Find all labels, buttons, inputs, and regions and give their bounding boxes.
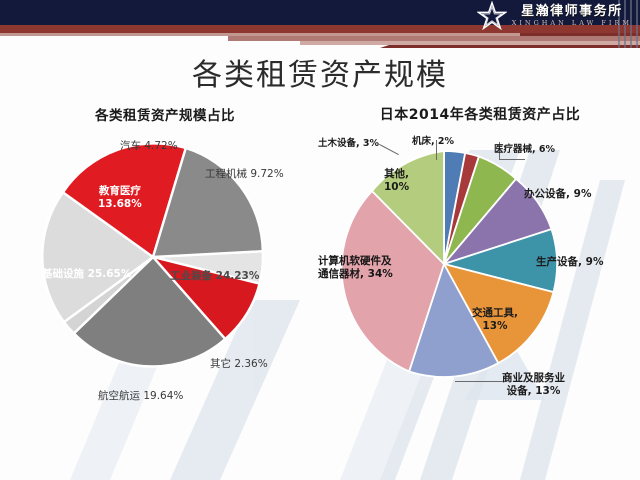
label-工程机械: 工程机械 9.72% [205, 168, 284, 181]
label-其他: 其他, 10% [384, 168, 409, 194]
label-工业装备: 工业装备 24.23% [170, 270, 259, 283]
star-icon [477, 1, 507, 31]
label-商业及服务业设备: 商业及服务业 设备, 13% [502, 372, 565, 398]
label-计算机软硬件及通信器材: 计算机软硬件及 通信器材, 34% [318, 255, 393, 281]
label-办公设备: 办公设备, 9% [524, 188, 591, 201]
label-航空航运: 航空航运 19.64% [98, 390, 183, 403]
chart-left-title: 各类租赁资产规模占比 [10, 104, 320, 124]
banner-step-2 [300, 41, 640, 45]
leader-line-医疗器械-2 [499, 159, 525, 160]
label-其它: 其它 2.36% [210, 358, 268, 371]
label-汽车: 汽车 4.72% [120, 140, 178, 153]
leader-line-商业及服务业设备 [455, 381, 507, 382]
label-交通工具: 交通工具, 13% [472, 307, 518, 333]
slide-canvas: 星瀚律师事务所 XINGHAN LAW FIRM 各类租赁资产规模 各类租赁资产… [0, 0, 640, 480]
header-banner: 星瀚律师事务所 XINGHAN LAW FIRM [0, 0, 640, 48]
label-教育医疗: 教育医疗 13.68% [98, 185, 142, 211]
chart-right-title: 日本2014年各类租赁资产占比 [320, 104, 640, 124]
label-土木设备: 土木设备, 3% [318, 138, 379, 150]
logo-chinese-name: 星瀚律师事务所 [521, 5, 623, 18]
logo-english-name: XINGHAN LAW FIRM [512, 20, 632, 27]
chart-right: 日本2014年各类租赁资产占比 [320, 100, 640, 440]
label-生产设备: 生产设备, 9% [536, 256, 603, 269]
firm-logo: 星瀚律师事务所 XINGHAN LAW FIRM [477, 1, 632, 31]
chart-left: 各类租赁资产规模占比 [10, 100, 320, 440]
page-title: 各类租赁资产规模 [0, 50, 640, 94]
label-医疗器械: 医疗器械, 6% [494, 144, 555, 156]
label-基础设施: 基础设施 25.65% [42, 268, 131, 281]
label-机床: 机床, 2% [412, 136, 454, 148]
